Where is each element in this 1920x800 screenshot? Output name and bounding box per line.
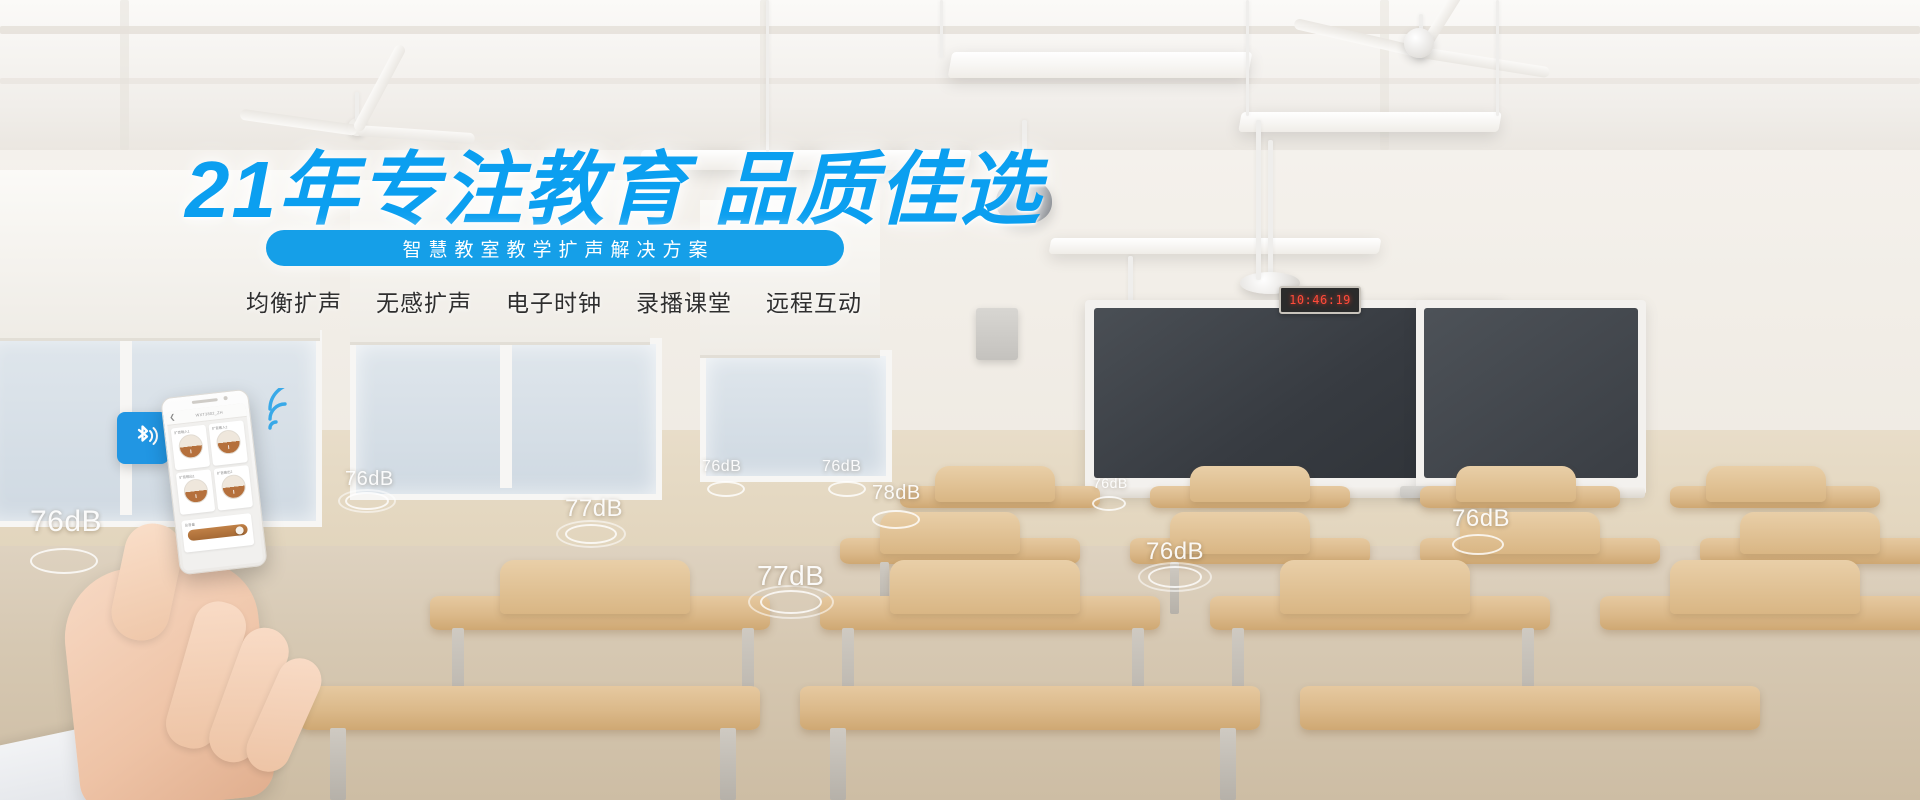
knob-grid: 扩音输入1扩音输入2扩音输出1扩音输出2 xyxy=(167,417,257,518)
light-hanger-rod xyxy=(766,0,769,152)
db-readout: 78dB xyxy=(872,482,921,505)
digital-clock: 10:46:19 xyxy=(1279,286,1361,314)
db-readout: 76dB xyxy=(1093,475,1128,491)
headline-part2: 品质佳选 xyxy=(714,145,1042,234)
db-readout: 76dB xyxy=(1452,505,1510,533)
sound-ripple xyxy=(1092,496,1126,511)
sound-ripple xyxy=(707,481,745,497)
phone-app-screen[interactable]: ❮ WXT3802_ZH 扩音输入1扩音输入2扩音输出1扩音输出2 总音量 xyxy=(166,403,264,571)
db-readout: 76dB xyxy=(1146,538,1204,566)
page-title: 21年专注教育品质佳选 xyxy=(185,150,1042,230)
feature-item: 无感扩声 xyxy=(376,284,472,318)
ceiling-light-panel xyxy=(1238,112,1502,132)
headline-part1: 21年专注教育 xyxy=(185,145,688,234)
pole xyxy=(1256,120,1261,280)
wifi-signal-icon xyxy=(262,388,308,434)
banner-stage: 10:46:19 xyxy=(0,0,1920,800)
clock-time: 10:46:19 xyxy=(1289,293,1351,307)
window-mullion xyxy=(500,338,512,488)
wall-mounted-speaker xyxy=(976,308,1018,360)
db-readout: 77dB xyxy=(757,560,824,592)
knob-card[interactable]: 扩音输出2 xyxy=(214,465,254,511)
headline-block: 21年专注教育品质佳选 xyxy=(185,150,1042,230)
sound-ripple xyxy=(1138,562,1212,592)
phone-earpiece xyxy=(192,398,218,404)
bluetooth-icon[interactable] xyxy=(117,412,169,464)
feature-item: 录播课堂 xyxy=(636,284,732,318)
dome-rod xyxy=(1268,140,1273,278)
knob-card[interactable]: 扩音输入2 xyxy=(208,420,248,466)
display-screen xyxy=(1424,308,1638,478)
db-readout: 76dB xyxy=(822,458,861,476)
volume-slider-card[interactable]: 总音量 xyxy=(181,513,254,553)
rotary-knob[interactable] xyxy=(215,429,242,456)
light-hanger-rod xyxy=(940,0,943,58)
ceiling-line xyxy=(120,0,129,150)
knob-card[interactable]: 扩音输入1 xyxy=(171,425,211,471)
sound-ripple xyxy=(828,481,866,497)
phone-camera xyxy=(223,396,227,400)
knob-card[interactable]: 扩音输出1 xyxy=(176,469,216,515)
feature-list: 均衡扩声无感扩声电子时钟录播课堂远程互动 xyxy=(246,284,862,318)
light-hanger-rod xyxy=(1496,0,1499,116)
feature-item: 远程互动 xyxy=(766,284,862,318)
subtitle-text: 智慧教室教学扩声解决方案 xyxy=(395,235,714,262)
feature-item: 电子时钟 xyxy=(506,284,602,318)
ceiling-light-panel xyxy=(1049,238,1382,254)
ceiling-line xyxy=(0,26,1920,34)
smoke-detector-icon xyxy=(1404,28,1434,58)
db-readout: 77dB xyxy=(565,495,623,523)
db-readout: 76dB xyxy=(702,458,741,476)
sound-ripple xyxy=(872,510,920,529)
rotary-knob[interactable] xyxy=(177,433,204,460)
volume-slider-knob[interactable] xyxy=(235,525,244,534)
subtitle-pill: 智慧教室教学扩声解决方案 xyxy=(266,230,844,266)
rotary-knob[interactable] xyxy=(182,478,209,505)
sound-ripple xyxy=(1452,534,1504,555)
ceiling-line xyxy=(0,78,1920,84)
light-hanger-rod xyxy=(1246,0,1249,116)
feature-item: 均衡扩声 xyxy=(246,284,342,318)
ceiling-light-panel xyxy=(948,52,1253,78)
db-readout: 76dB xyxy=(345,468,394,491)
rotary-knob[interactable] xyxy=(220,474,247,501)
sound-ripple xyxy=(556,520,626,548)
